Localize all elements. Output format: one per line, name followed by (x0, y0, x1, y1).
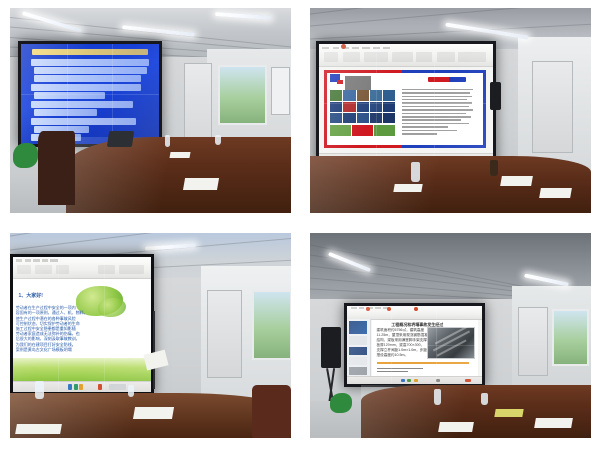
water-bottle (434, 389, 441, 405)
water-bottle (35, 381, 43, 399)
video-wall-bezels (13, 257, 151, 392)
meeting-room-scene-4: 工程概况和坍塌事故发生经过 建筑面积约5756㎡，建筑高度 11.25m，屋顶采… (310, 233, 591, 438)
photo-top-left[interactable] (10, 8, 291, 213)
wall-notice (271, 67, 290, 114)
window (252, 290, 291, 360)
photo-collage: 1、大家好! 劳动者在生产过程中安全的一项内 容固有的一项原则，通过人、机、物料… (0, 0, 600, 450)
loudspeaker (321, 327, 341, 368)
door (207, 290, 243, 378)
green-bag (330, 393, 352, 414)
paper-document (15, 424, 62, 434)
window (552, 309, 590, 366)
meeting-room-scene-1 (10, 8, 291, 213)
door (532, 61, 573, 153)
photo-top-right[interactable] (310, 8, 591, 213)
laptop (107, 131, 135, 147)
paper-document (534, 418, 572, 428)
video-wall[interactable] (316, 41, 496, 166)
paper-document (170, 152, 191, 158)
office-chair (252, 385, 291, 438)
video-wall-bezels (21, 44, 159, 144)
water-bottle (165, 135, 171, 147)
paper-document (183, 178, 219, 190)
conference-table (361, 385, 591, 438)
paper-document (394, 184, 424, 192)
photo-bottom-left[interactable]: 1、大家好! 劳动者在生产过程中安全的一项内 容固有的一项原则，通过人、机、物料… (10, 233, 291, 438)
paper-document (438, 422, 474, 432)
office-chair (38, 131, 75, 205)
door (184, 63, 211, 147)
water-bottle (411, 162, 419, 183)
video-wall[interactable]: 1、大家好! 劳动者在生产过程中安全的一项内 容固有的一项原则，通过人、机、物料… (10, 254, 154, 395)
paper-document (133, 407, 174, 419)
notebook (495, 409, 525, 417)
water-bottle (128, 385, 134, 397)
water-bottle (481, 393, 488, 405)
tea-cup (490, 160, 498, 176)
conference-table (66, 137, 291, 213)
meeting-room-scene-2 (310, 8, 591, 213)
green-bag (13, 143, 38, 168)
door (518, 307, 548, 377)
video-wall-bezels (347, 306, 482, 384)
video-wall-bezels (319, 44, 493, 163)
wall-speaker (490, 82, 501, 111)
video-wall[interactable]: 工程概况和坍塌事故发生经过 建筑面积约5756㎡，建筑高度 11.25m，屋顶采… (344, 303, 485, 387)
water-bottle (215, 135, 221, 145)
mic-stand (153, 311, 155, 389)
paper-document (540, 188, 573, 198)
meeting-room-scene-3: 1、大家好! 劳动者在生产过程中安全的一项内 容固有的一项原则，通过人、机、物料… (10, 233, 291, 438)
photo-bottom-right[interactable]: 工程概况和坍塌事故发生经过 建筑面积约5756㎡，建筑高度 11.25m，屋顶采… (310, 233, 591, 438)
conference-table (310, 156, 591, 213)
window (218, 65, 267, 124)
notebook (500, 176, 533, 186)
